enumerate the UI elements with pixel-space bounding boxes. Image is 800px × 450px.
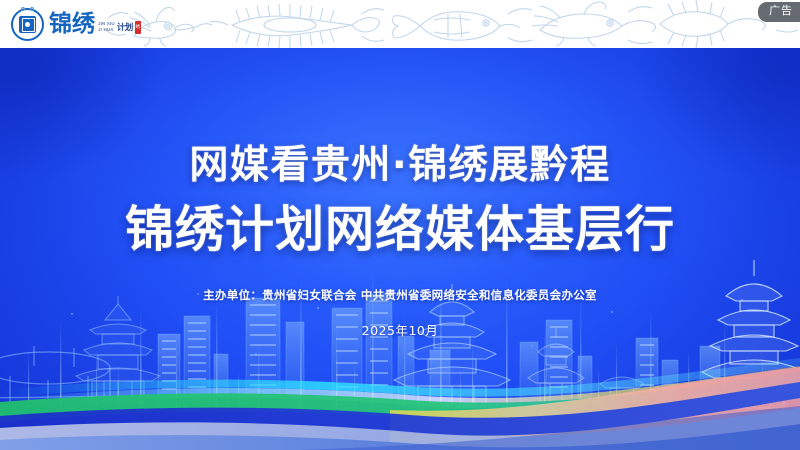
poster-title-line-2: 锦绣计划网络媒体基层行: [0, 198, 800, 262]
seal-dots-icon: [21, 7, 39, 13]
poster-background: 网媒看贵州·锦绣展黔程 锦绣计划网络媒体基层行 主办单位：贵州省妇女联合会 中共…: [0, 46, 800, 450]
brand-name: 锦绣: [49, 13, 95, 36]
brand-plan-text: 计划: [117, 23, 133, 32]
brand-latin-line-2: JI HUA: [98, 28, 115, 33]
brand-latin-line-1: JIN XIU: [98, 22, 115, 27]
circular-seal-icon: [11, 8, 44, 41]
brand-logo-text: 锦绣 JIN XIU JI HUA 计划 绣: [49, 13, 141, 36]
poster-banner: 网媒看贵州·锦绣展黔程 锦绣计划网络媒体基层行 主办单位：贵州省妇女联合会 中共…: [0, 0, 800, 450]
brand-latin-lines: JIN XIU JI HUA: [98, 22, 115, 33]
organizer-text: 主办单位：贵州省妇女联合会 中共贵州省委网络安全和信息化委员会办公室: [0, 287, 800, 303]
brand-logo[interactable]: 锦绣 JIN XIU JI HUA 计划 绣: [11, 6, 141, 42]
brand-accent-mark: 绣: [135, 21, 141, 34]
event-date: 2025年10月: [0, 320, 800, 339]
poster-title-line-1: 网媒看贵州·锦绣展黔程: [0, 142, 800, 191]
header-band: 锦绣 JIN XIU JI HUA 计划 绣 广告: [0, 0, 800, 48]
ad-badge[interactable]: 广告: [758, 2, 800, 22]
title-block: 网媒看贵州·锦绣展黔程 锦绣计划网络媒体基层行 主办单位：贵州省妇女联合会 中共…: [0, 142, 800, 339]
